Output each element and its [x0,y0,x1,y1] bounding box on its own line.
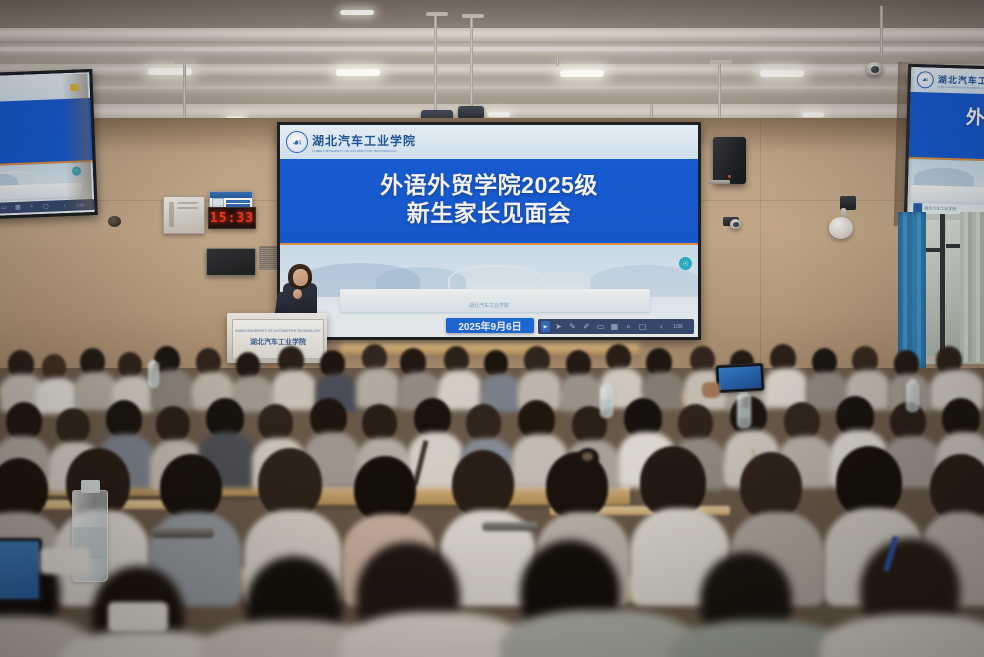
tablet-foreground[interactable] [0,538,42,602]
right-side-screen[interactable]: ☙ 湖北汽车工业学院 HUBEI UNIVERSITY OF AUTOMOTIV… [904,64,984,226]
left-screen-edge-shadow [61,74,92,211]
smartphone-recording[interactable] [715,363,764,393]
dark-display-panel [206,248,256,276]
phone-screen [718,366,761,390]
paper-on-desk [108,602,168,632]
hand-holding-phone [702,382,720,398]
water-bottle-mid-1 [600,386,613,418]
slide-title: 外语外贸学院2025级 新生家长见面会 [280,171,698,227]
slide-right-logo-cn: 湖北汽车工业学院 [938,72,984,87]
logo-watermark-icon: ☉ [679,257,692,270]
slide-right-header: ☙ 湖北汽车工业学院 HUBEI UNIVERSITY OF AUTOMOTIV… [910,67,984,96]
ceiling-rod-projector-2 [470,16,473,108]
presenter-face [293,269,308,286]
ceiling-rod-projector-1 [434,14,437,114]
bullet-camera-lens [730,219,741,229]
ceiling-rod-mid [556,58,559,66]
water-bottle-mid-3 [906,382,919,412]
ceiling-rod-plate-left [174,60,196,64]
slide-main: ☙ 湖北汽车工业学院 HUBEI UNIVERSITY OF AUTOMOTIV… [280,125,698,337]
ceiling [0,0,984,128]
wall-conduit-hole [108,216,121,227]
wall-fan [829,217,853,239]
slide-logo-en: HUBEI UNIVERSITY OF AUTOMOTIVE TECHNOLOG… [312,149,416,152]
projector-mount-plate-2 [462,14,484,18]
ceiling-rod-right-2 [718,62,721,120]
slide-right-logo-en: HUBEI UNIVERSITY OF AUTOMOTIVE TECHNOLOG… [938,85,984,90]
ceiling-band-1 [0,28,984,41]
water-bottle-far-1 [148,362,159,388]
dome-camera-ceiling [866,62,883,75]
ceiling-rod-left [183,62,186,120]
ceiling-downlight-3 [560,70,604,77]
speaker-bracket [708,180,730,184]
eyeglasses-on-desk-2 [482,522,538,531]
university-crest-icon: ☙ [286,131,308,153]
right-screen-crest-icon: ☙ [917,71,934,88]
ceiling-rod-far-right [880,6,883,54]
ceiling-light-strip-2 [0,86,984,89]
paper-on-desk-2 [40,548,90,574]
ceiling-dark-band [0,0,984,30]
ceiling-downlight-6 [488,112,510,117]
led-clock-value: 15:33 [210,211,254,226]
tablet-screen [0,541,39,599]
presenter-hand [293,289,302,299]
water-bottle-mid-2 [737,394,751,428]
slide-title-line-1: 外语外贸学院2025级 [280,171,698,199]
main-presentation-screen[interactable]: ☙ 湖北汽车工业学院 HUBEI UNIVERSITY OF AUTOMOTIV… [277,122,701,340]
ceiling-downlight-2 [336,69,380,76]
ceiling-rod-plate-right [710,60,732,64]
slide-title-line-2: 新生家长见面会 [280,199,698,227]
control-box [163,196,205,234]
wall-speaker-right [713,137,746,184]
projector-mount-plate-1 [426,12,448,16]
led-clock-display: 15:33 [208,207,256,229]
campus-gate-caption: 湖北汽车工业学院 [280,302,698,309]
eyeglasses-on-desk [152,528,214,538]
hair-tie [582,452,593,461]
slide-header: ☙ 湖北汽车工业学院 HUBEI UNIVERSITY OF AUTOMOTIV… [280,125,698,159]
slide-right-title: 外 [909,105,984,134]
audience-area [0,330,984,657]
slide-right: ☙ 湖北汽车工业学院 HUBEI UNIVERSITY OF AUTOMOTIV… [907,67,984,223]
lecture-hall-photo: 15:33 ☙ 湖北汽车工业学院 HUBEI UNIVERSITY OF AUT… [0,0,984,657]
ceiling-downlight-7 [802,112,824,117]
ceiling-downlight-8 [340,10,374,15]
ceiling-light-strip-1 [0,47,984,51]
ceiling-downlight-4 [760,70,804,77]
left-screen-sticker [70,84,79,91]
slide-logo-cn: 湖北汽车工业学院 [312,132,416,149]
